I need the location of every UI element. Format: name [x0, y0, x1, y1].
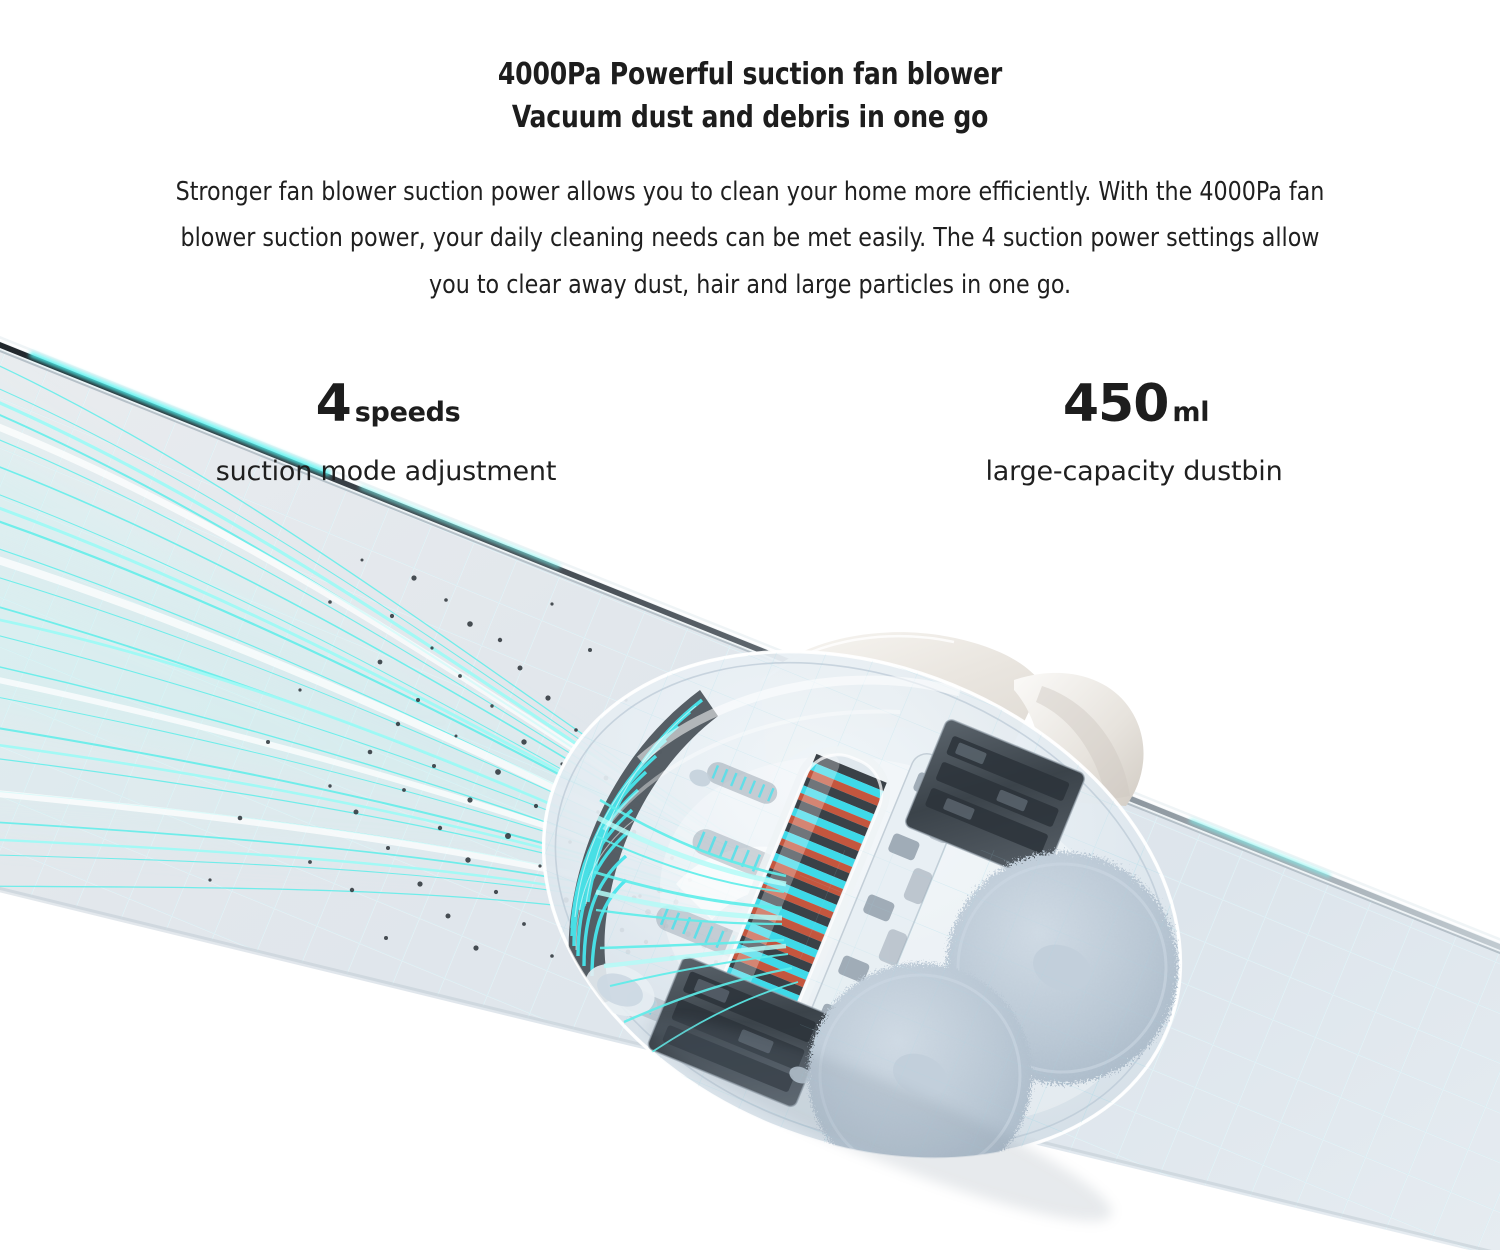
hero-illustration [0, 0, 1500, 1250]
product-feature-page: 4000Pa Powerful suction fan blower Vacuu… [0, 0, 1500, 1250]
